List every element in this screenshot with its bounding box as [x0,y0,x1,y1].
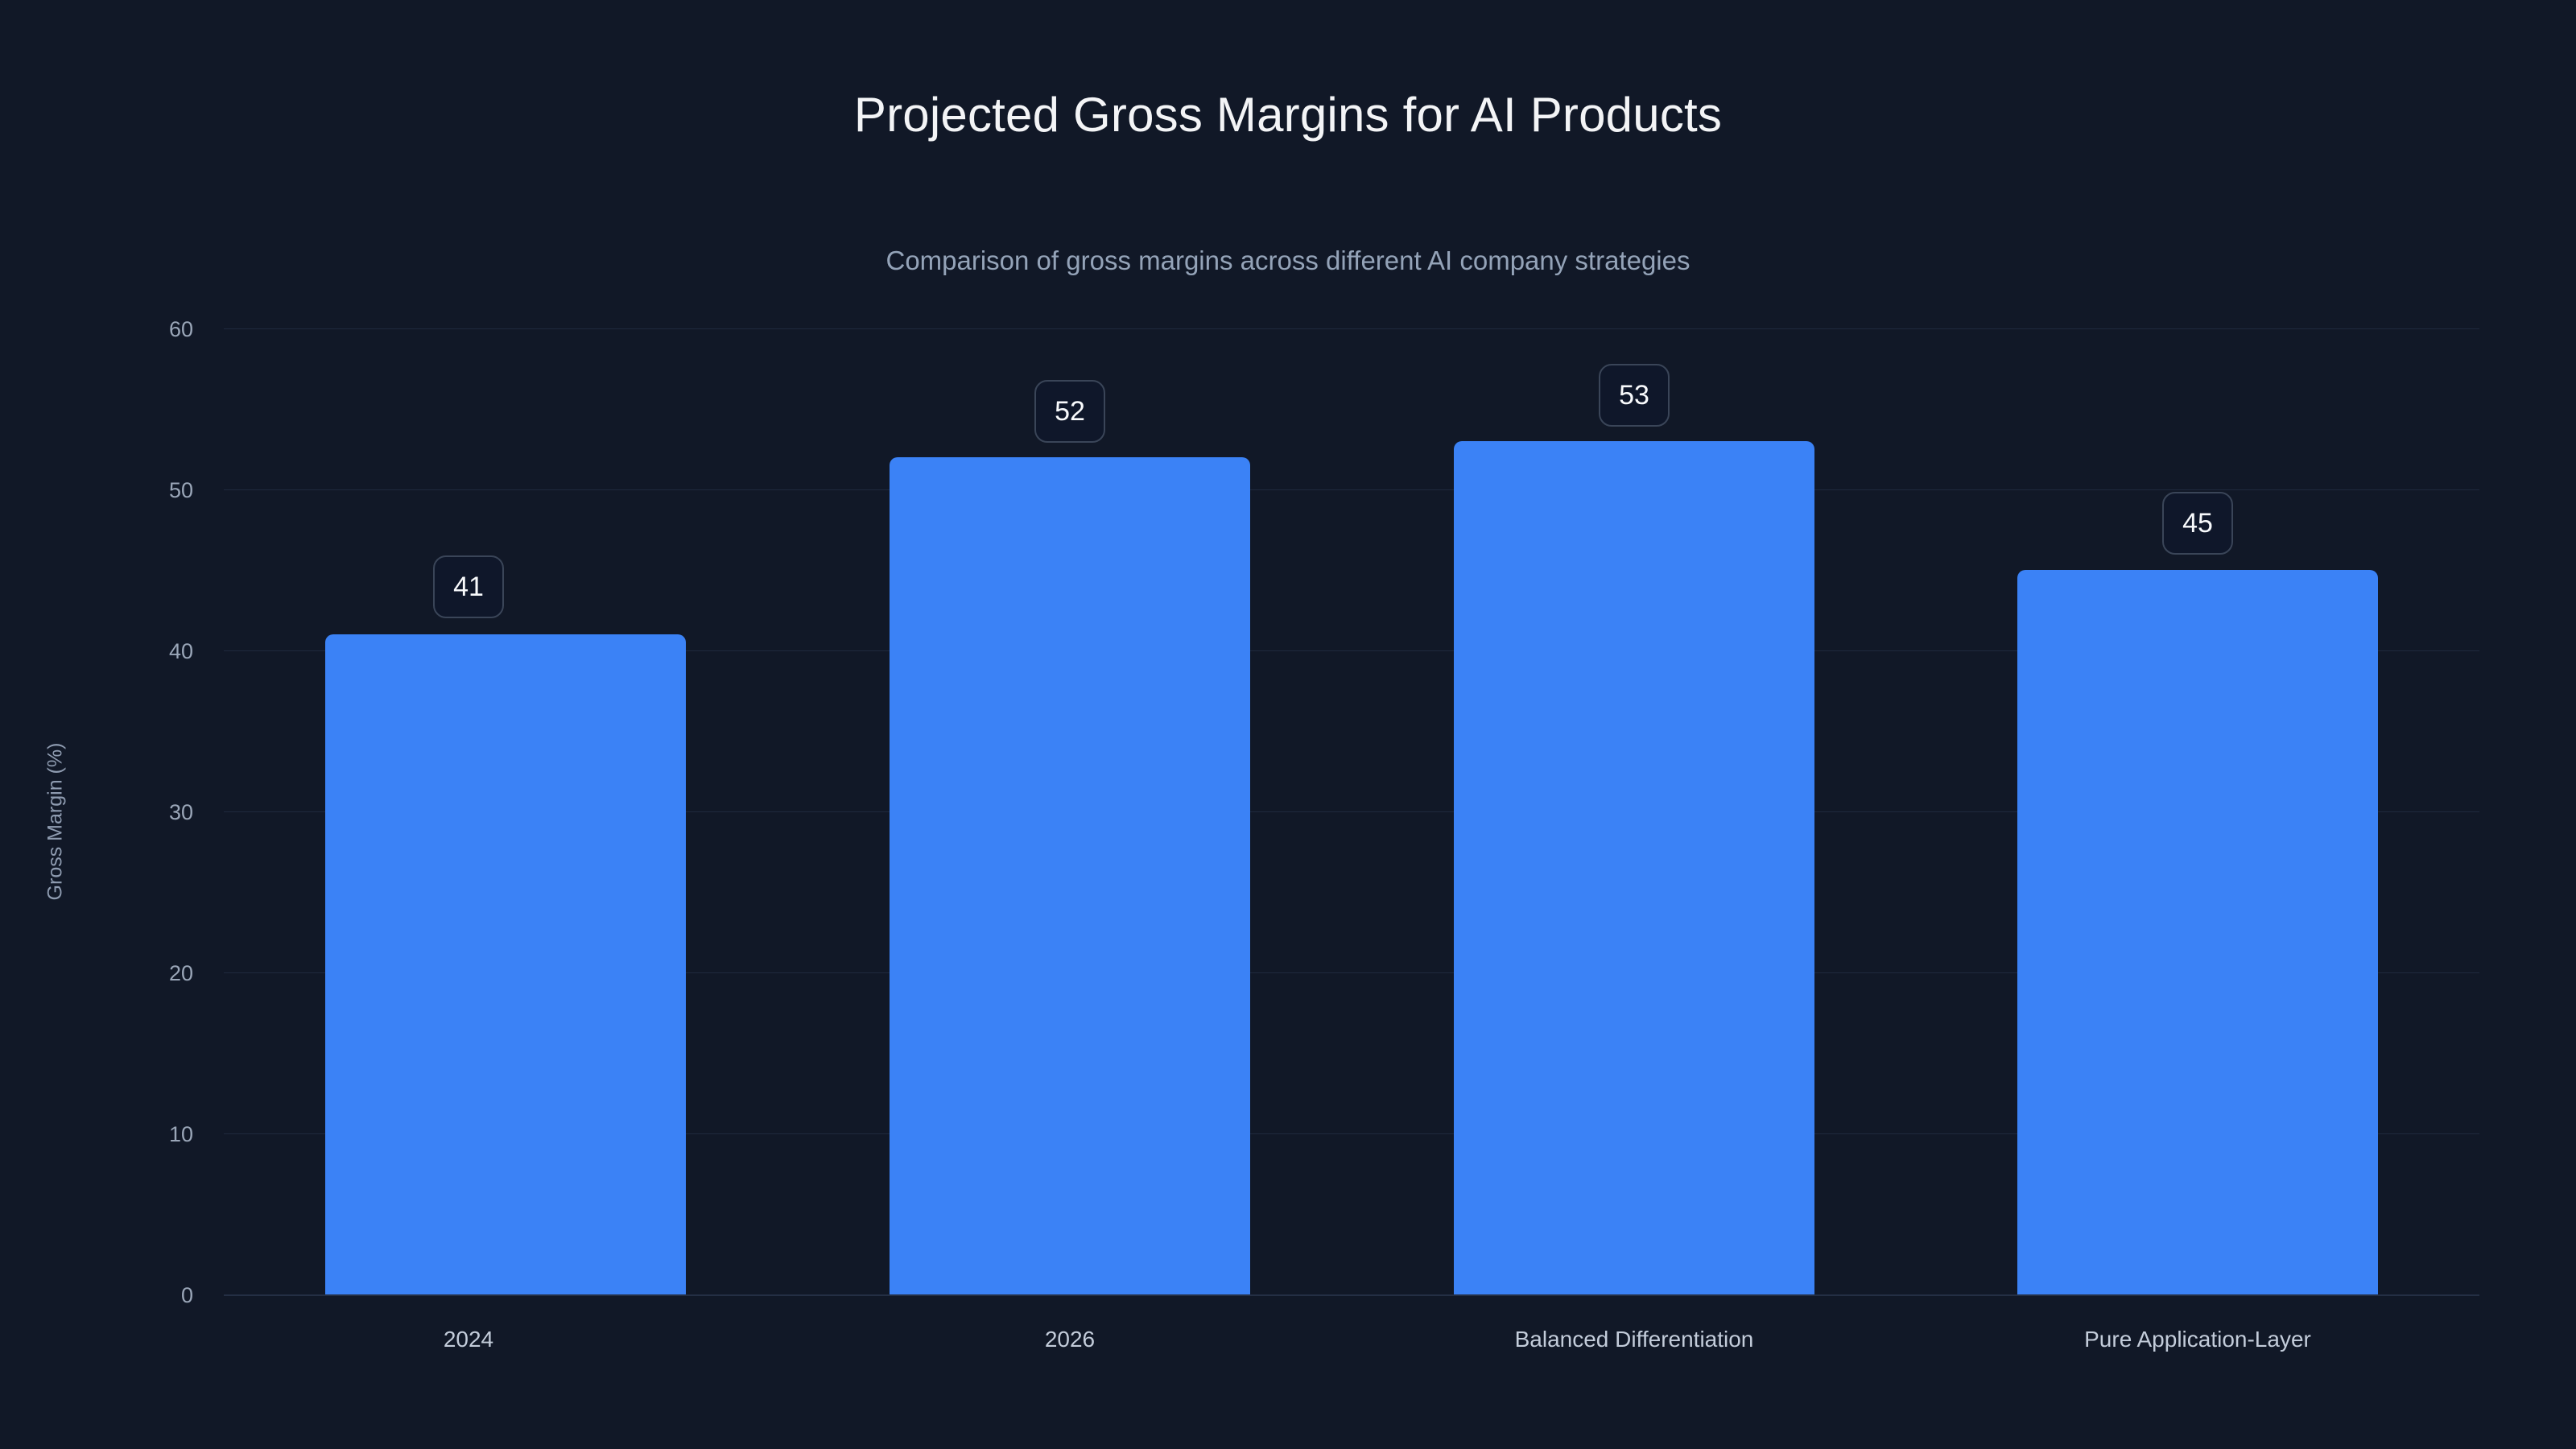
y-tick-label-30: 30 [24,802,193,824]
x-tick-label-2026: 2026 [828,1328,1311,1351]
value-label-2026: 52 [1034,380,1105,443]
x-tick-label-2024: 2024 [227,1328,710,1351]
plot-area [224,328,2479,1294]
gridline-60 [224,328,2479,329]
x-axis-line [224,1294,2479,1296]
value-label-balanced-differentiation: 53 [1599,364,1670,427]
chart-subtitle: Comparison of gross margins across diffe… [0,247,2576,274]
value-label-pure-application-layer: 45 [2162,492,2233,555]
bar-2026[interactable] [890,457,1250,1294]
gridline-50 [224,489,2479,490]
y-tick-label-20: 20 [24,963,193,985]
y-tick-label-50: 50 [24,480,193,502]
value-label-2024: 41 [433,555,504,618]
bar-2024[interactable] [325,634,686,1294]
x-tick-label-pure-application-layer: Pure Application-Layer [1956,1328,2439,1351]
chart-title: Projected Gross Margins for AI Products [0,91,2576,139]
y-tick-label-40: 40 [24,641,193,663]
bar-chart-figure: Projected Gross Margins for AI Products … [0,0,2576,1449]
y-tick-label-10: 10 [24,1124,193,1146]
bar-pure-application-layer[interactable] [2017,570,2378,1294]
bar-balanced-differentiation[interactable] [1454,441,1814,1294]
y-tick-label-60: 60 [24,319,193,341]
y-tick-label-0: 0 [24,1285,193,1307]
x-tick-label-balanced-differentiation: Balanced Differentiation [1393,1328,1876,1351]
